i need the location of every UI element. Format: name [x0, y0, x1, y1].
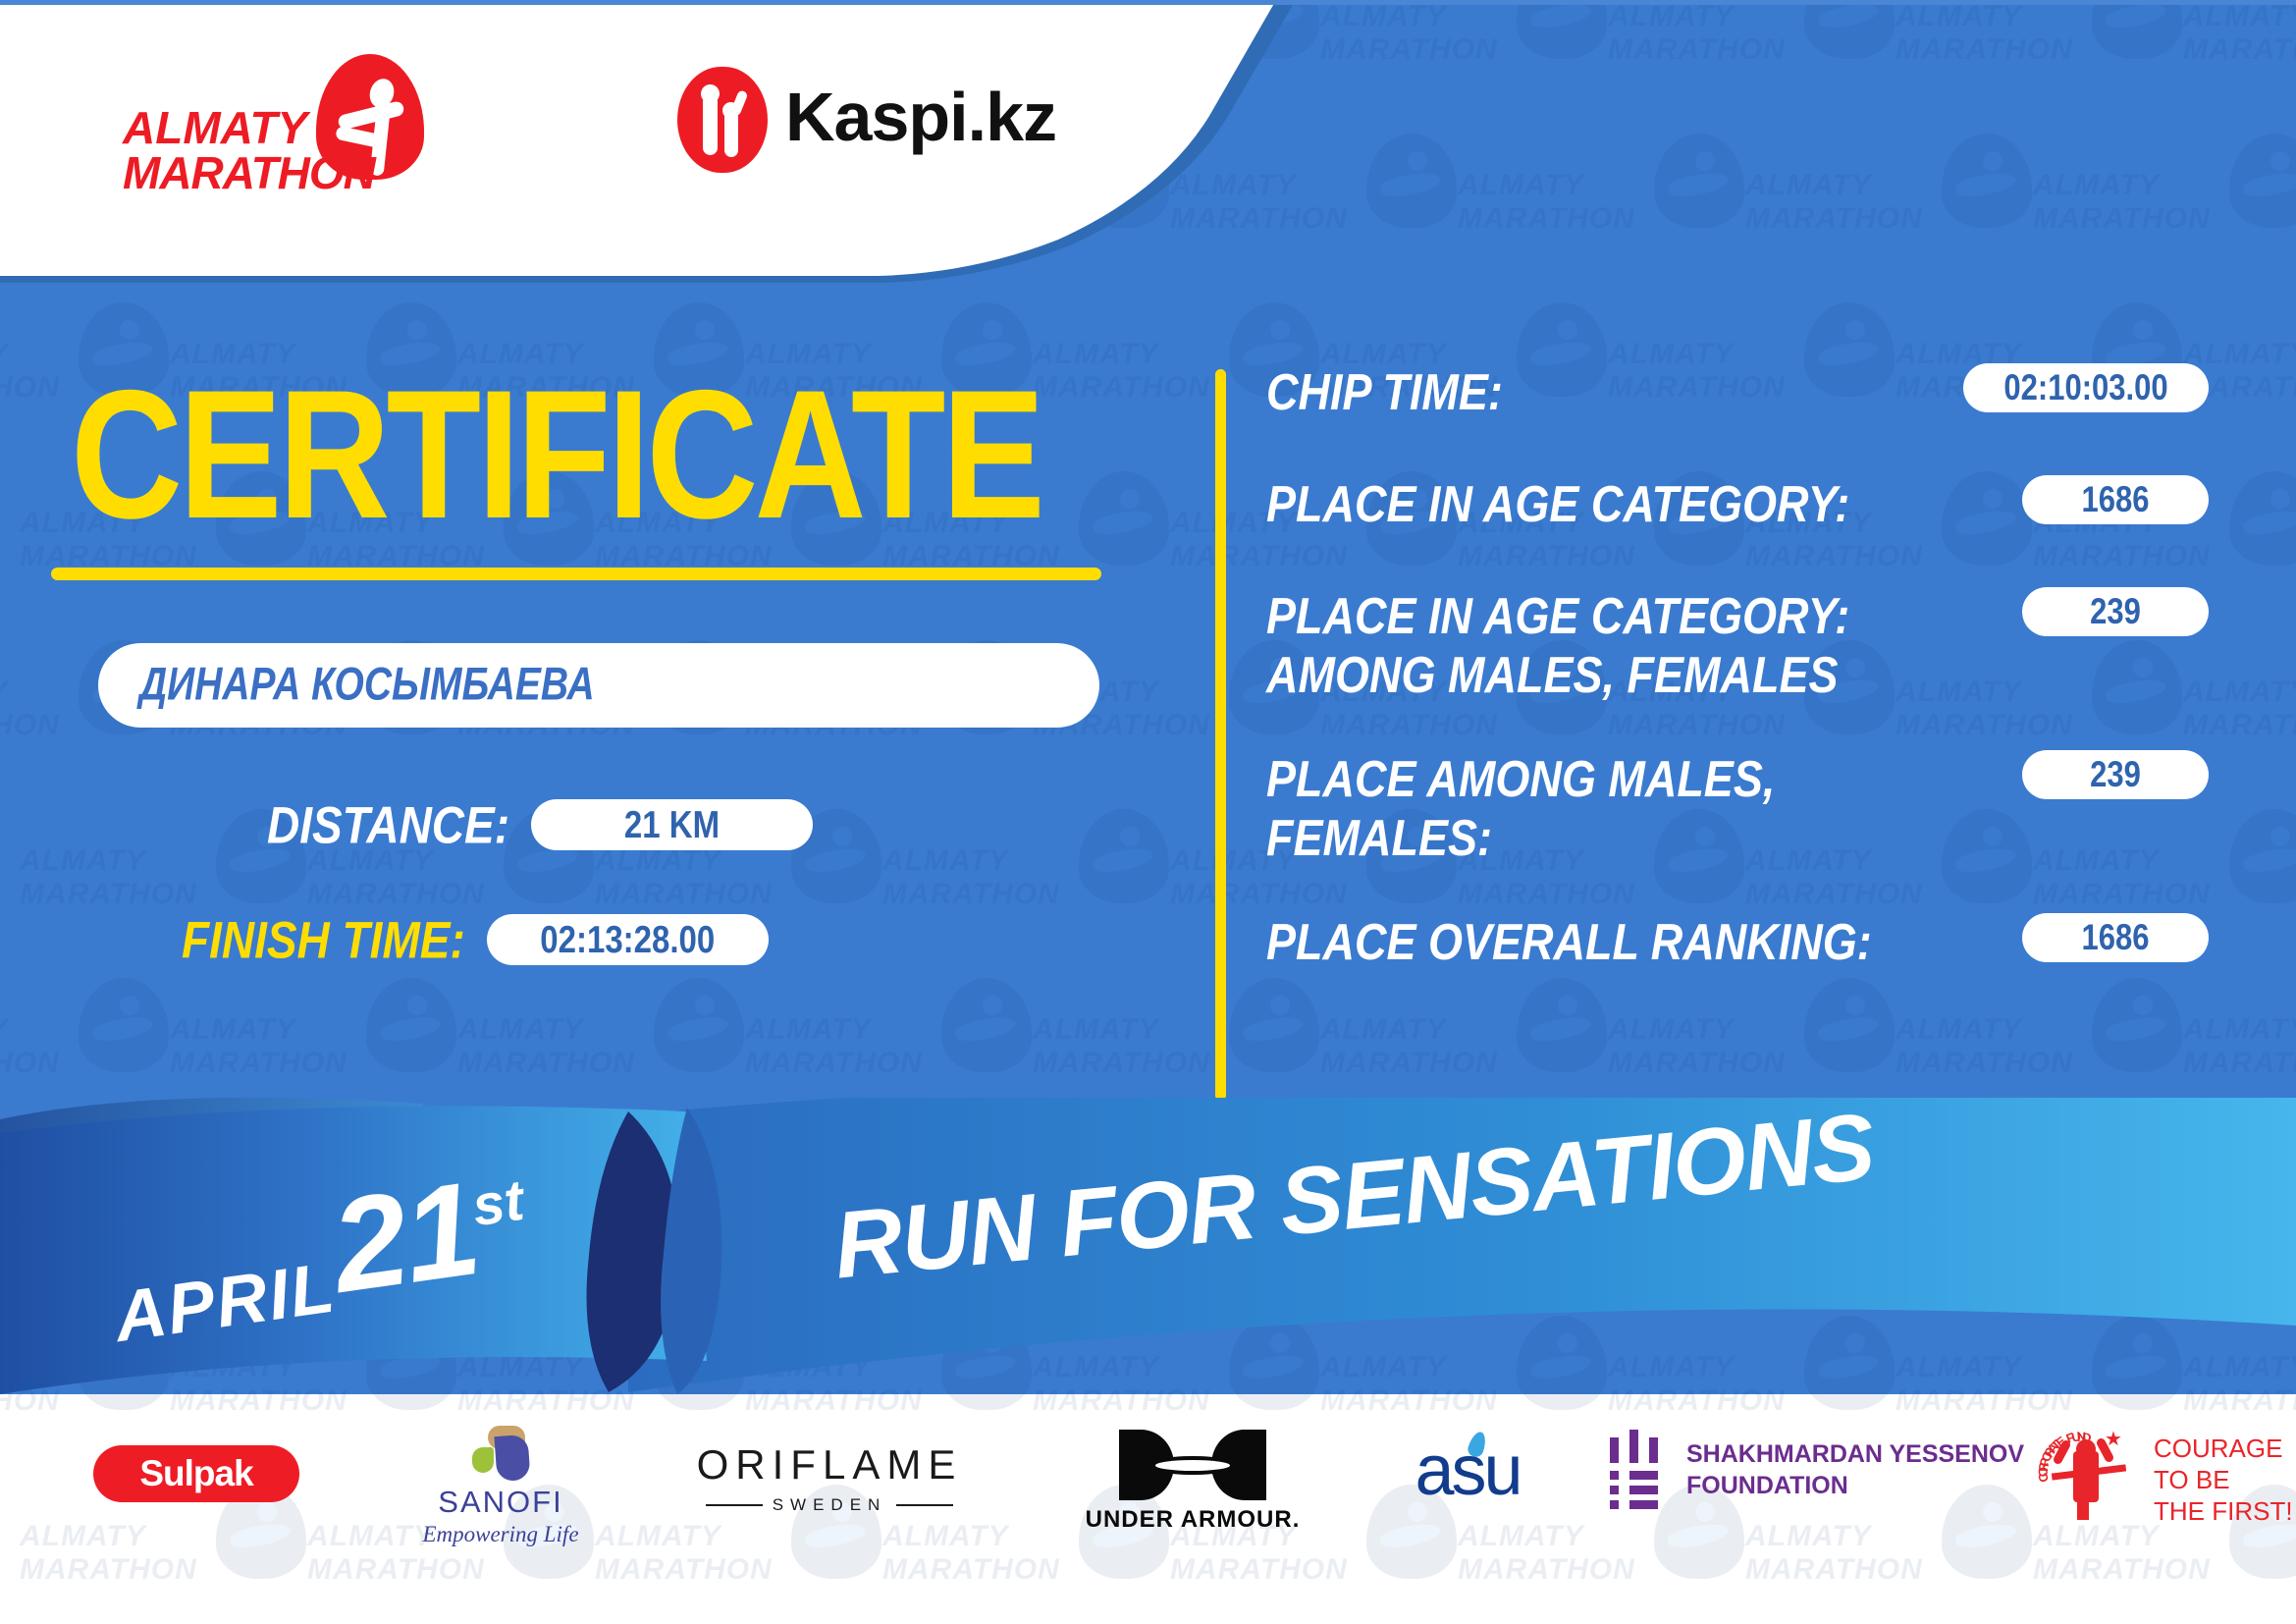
distance-label: DISTANCE:	[267, 794, 509, 855]
oriflame-rule-left	[706, 1504, 763, 1506]
kaspi-wordmark: Kaspi.kz	[785, 82, 1056, 151]
almaty-marathon-logo: ALMATY MARATHON	[123, 54, 427, 187]
distance-row: DISTANCE: 21 KM	[267, 798, 813, 851]
stats-list: CHIP TIME:02:10:03.00PLACE IN AGE CATEGO…	[1266, 363, 2209, 1025]
stat-value-pill: 02:10:03.00	[1963, 363, 2209, 412]
corporate-fund-runner-icon: CORPORATE FUND ★	[2032, 1426, 2140, 1534]
corporate-fund-tagline-line: COURAGE	[2154, 1433, 2293, 1464]
stat-value: 1686	[2082, 916, 2150, 958]
watermark-line-2: MARATHON	[1320, 33, 1498, 67]
watermark-line-2: MARATHON	[2183, 33, 2296, 67]
watermark-line-2: MARATHON	[1745, 202, 1923, 236]
watermark-line-2: MARATHON	[1033, 1047, 1210, 1080]
watermark-runner-icon	[79, 978, 169, 1072]
watermark-tile: ALMATYMARATHON	[2183, 0, 2296, 137]
page-title: CERTIFICATE	[71, 363, 1041, 546]
almaty-marathon-wordmark: ALMATY MARATHON	[123, 105, 375, 195]
watermark-runner-icon	[1517, 0, 1607, 59]
watermark-line-1: ALMATY	[0, 1013, 9, 1047]
stat-row: PLACE OVERALL RANKING:1686	[1266, 913, 2209, 964]
sponsor-corporate-fund-tagline: COURAGETO BETHE FIRST!	[2154, 1433, 2293, 1527]
participant-name-value: ДИНАРА КОСЫМБАЕВА	[139, 659, 595, 712]
stat-label-line: PLACE AMONG MALES,	[1266, 750, 2008, 809]
sponsor-oriflame-logo: ORIFLAME SWEDEN	[687, 1441, 972, 1515]
distance-value: 21 KM	[624, 803, 720, 847]
participant-name-field: ДИНАРА КОСЫМБАЕВА	[98, 643, 1099, 728]
stat-label: PLACE IN AGE CATEGORY:AMONG MALES, FEMAL…	[1266, 587, 2008, 705]
watermark-line-1: ALMATY	[1745, 169, 1872, 202]
watermark-tile: ALMATYMARATHON	[882, 805, 1177, 982]
watermark-line-1: ALMATY	[1033, 1013, 1159, 1047]
sponsor-oriflame-tagline: SWEDEN	[773, 1495, 887, 1515]
watermark-tile: ALMATYMARATHON	[1608, 0, 1902, 137]
watermark-line-2: MARATHON	[170, 1047, 347, 1080]
stat-row: PLACE AMONG MALES,FEMALES:239	[1266, 750, 2209, 852]
finish-time-value-pill: 02:13:28.00	[487, 914, 769, 965]
watermark-line-1: ALMATY	[1458, 169, 1584, 202]
sponsor-yessenov-label: SHAKHMARDAN YESSENOV	[1686, 1438, 2024, 1470]
watermark-runner-icon	[1942, 134, 2032, 228]
stat-label: PLACE AMONG MALES,FEMALES:	[1266, 750, 2008, 868]
watermark-line-2: MARATHON	[1608, 1047, 1786, 1080]
watermark-line-1: ALMATY	[20, 844, 146, 878]
stat-label: PLACE OVERALL RANKING:	[1266, 913, 2008, 972]
watermark-tile: ALMATYMARATHON	[1320, 0, 1615, 137]
watermark-line-1: ALMATY	[0, 676, 9, 709]
watermark-line-2: MARATHON	[20, 878, 197, 911]
sponsor-sanofi-tagline: Empowering Life	[402, 1522, 599, 1547]
watermark-tile: ALMATYMARATHON	[1745, 130, 2040, 306]
watermark-runner-icon	[2229, 471, 2296, 566]
watermark-runner-icon	[1804, 0, 1895, 59]
watermark-line-1: ALMATY	[2033, 169, 2160, 202]
sponsor-asu-label: asu	[1415, 1435, 1520, 1506]
watermark-tile: ALMATYMARATHON	[1458, 130, 1752, 306]
title-underline	[51, 568, 1101, 580]
watermark-line-1: ALMATY	[745, 1013, 872, 1047]
certificate-page: ALMATYMARATHONALMATYMARATHONALMATYMARATH…	[0, 0, 2296, 1624]
sponsor-under-armour-logo: UNDER ARMOUR.	[1085, 1430, 1301, 1534]
stat-row: CHIP TIME:02:10:03.00	[1266, 363, 2209, 414]
stat-value-pill: 239	[2022, 750, 2209, 799]
sponsor-sulpak-logo: Sulpak	[93, 1445, 299, 1502]
watermark-line-2: MARATHON	[457, 1047, 635, 1080]
watermark-line-1: ALMATY	[1320, 0, 1447, 33]
watermark-line-1: ALMATY	[2183, 0, 2296, 33]
stat-value-pill: 239	[2022, 587, 2209, 636]
event-day-suffix: st	[468, 1168, 527, 1239]
corporate-fund-tagline-line: THE FIRST!	[2154, 1495, 2293, 1527]
watermark-line-2: MARATHON	[0, 1047, 60, 1080]
watermark-runner-icon	[1366, 134, 1457, 228]
sponsor-sanofi-label: SANOFI	[402, 1485, 599, 1520]
stat-row: PLACE IN AGE CATEGORY:AMONG MALES, FEMAL…	[1266, 587, 2209, 689]
finish-time-label: FINISH TIME:	[182, 909, 465, 970]
watermark-tile: ALMATYMARATHON	[1896, 0, 2190, 137]
stat-value-pill: 1686	[2022, 913, 2209, 962]
sponsor-under-armour-label: UNDER ARMOUR.	[1085, 1506, 1301, 1534]
watermark-line-1: ALMATY	[1033, 338, 1159, 371]
watermark-line-2: MARATHON	[1896, 1047, 2073, 1080]
watermark-line-2: MARATHON	[2183, 1047, 2296, 1080]
sponsor-sulpak-label: Sulpak	[139, 1453, 252, 1494]
watermark-line-1: ALMATY	[0, 338, 9, 371]
stat-value: 02:10:03.00	[2003, 366, 2167, 408]
watermark-runner-icon	[941, 978, 1032, 1072]
sponsor-yessenov-text: SHAKHMARDAN YESSENOV FOUNDATION	[1686, 1438, 2024, 1501]
sponsor-asu-logo: asu	[1369, 1435, 1566, 1506]
sanofi-mark-icon	[470, 1426, 531, 1483]
watermark-line-2: MARATHON	[595, 878, 773, 911]
watermark-line-2: MARATHON	[1320, 1047, 1498, 1080]
watermark-runner-icon	[1079, 471, 1169, 566]
stat-row: PLACE IN AGE CATEGORY:1686	[1266, 475, 2209, 526]
under-armour-mark-icon	[1119, 1430, 1266, 1500]
corporate-fund-tagline-line: TO BE	[2154, 1464, 2293, 1495]
sponsor-sanofi-logo: SANOFI Empowering Life	[402, 1426, 599, 1547]
sponsor-yessenov-logo: SHAKHMARDAN YESSENOV FOUNDATION	[1610, 1430, 2024, 1510]
watermark-line-1: ALMATY	[1896, 0, 2022, 33]
stat-label: CHIP TIME:	[1266, 363, 1949, 422]
watermark-runner-icon	[366, 978, 456, 1072]
asu-text: asu	[1415, 1432, 1520, 1510]
watermark-line-2: MARATHON	[2033, 202, 2211, 236]
watermark-runner-icon	[2092, 0, 2182, 59]
stat-label-line: PLACE IN AGE CATEGORY:	[1266, 587, 2008, 646]
sponsor-corporate-fund-logo: CORPORATE FUND ★ COURAGETO BETHE FIRST!	[2032, 1426, 2293, 1534]
stat-label-line: AMONG MALES, FEMALES	[1266, 646, 2008, 705]
watermark-runner-icon	[654, 978, 744, 1072]
stat-value: 239	[2090, 590, 2141, 632]
stat-label: PLACE IN AGE CATEGORY:	[1266, 475, 2008, 534]
sponsor-yessenov-tagline: FOUNDATION	[1686, 1470, 2024, 1501]
watermark-line-1: ALMATY	[882, 844, 1009, 878]
watermark-tile: ALMATYMARATHON	[2033, 130, 2296, 306]
watermark-line-2: MARATHON	[307, 878, 485, 911]
finish-time-value: 02:13:28.00	[540, 918, 715, 962]
stat-label-line: FEMALES:	[1266, 809, 2008, 868]
kaspi-person-icon	[677, 67, 768, 173]
sponsor-oriflame-sub: SWEDEN	[687, 1495, 972, 1515]
stat-value: 239	[2090, 753, 2141, 795]
watermark-line-2: MARATHON	[1896, 33, 2073, 67]
watermark-line-2: MARATHON	[882, 878, 1060, 911]
stat-value: 1686	[2082, 478, 2150, 520]
watermark-line-1: ALMATY	[1608, 0, 1735, 33]
stat-value-pill: 1686	[2022, 475, 2209, 524]
stat-label-line: CHIP TIME:	[1266, 363, 1949, 422]
logo-line-1: ALMATY	[123, 105, 375, 150]
watermark-runner-icon	[2229, 134, 2296, 228]
sponsor-oriflame-label: ORIFLAME	[687, 1441, 972, 1489]
watermark-runner-icon	[2229, 809, 2296, 903]
watermark-line-2: MARATHON	[745, 1047, 923, 1080]
watermark-line-2: MARATHON	[0, 709, 60, 742]
watermark-runner-icon	[1654, 134, 1744, 228]
watermark-line-2: MARATHON	[1033, 371, 1210, 405]
stat-label-line: PLACE OVERALL RANKING:	[1266, 913, 2008, 972]
stat-label-line: PLACE IN AGE CATEGORY:	[1266, 475, 2008, 534]
watermark-line-1: ALMATY	[457, 1013, 584, 1047]
event-day: 21	[324, 1154, 487, 1321]
finish-time-row: FINISH TIME: 02:13:28.00	[182, 913, 769, 966]
header-logos: ALMATY MARATHON Kaspi.kz	[0, 0, 1178, 275]
watermark-line-2: MARATHON	[0, 371, 60, 405]
watermark-line-2: MARATHON	[1608, 33, 1786, 67]
watermark-line-2: MARATHON	[1458, 202, 1635, 236]
yessenov-mark-icon	[1610, 1430, 1665, 1510]
sponsor-bar: Sulpak SANOFI Empowering Life ORIFLAME S…	[0, 1426, 2296, 1602]
watermark-runner-icon	[1079, 809, 1169, 903]
logo-line-2: MARATHON	[123, 150, 375, 195]
distance-value-pill: 21 KM	[531, 799, 813, 850]
oriflame-rule-right	[896, 1504, 953, 1506]
watermark-line-1: ALMATY	[170, 1013, 296, 1047]
vertical-divider	[1215, 369, 1226, 1101]
